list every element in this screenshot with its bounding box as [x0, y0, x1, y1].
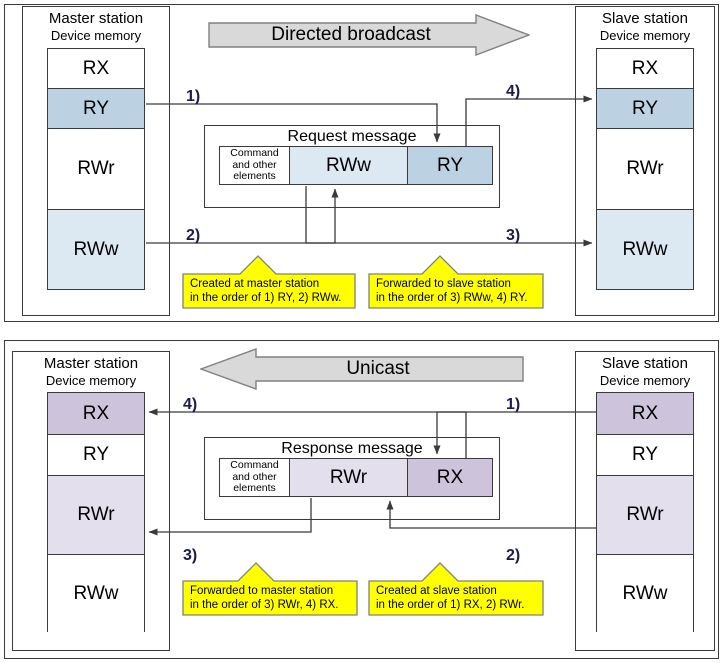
bottom-slave-memory-stack: RX RY RWr RWw	[596, 392, 694, 632]
message-segment-command: Command and other elements	[220, 459, 290, 496]
callout-created-at-slave: Created at slave station in the order of…	[368, 562, 544, 616]
diagram-canvas: Directed broadcast Master station Device…	[0, 0, 723, 663]
memory-cell-ry: RY	[597, 435, 693, 476]
top-step-label-2: 2)	[186, 227, 200, 245]
response-message-title: Response message	[204, 440, 500, 458]
memory-cell-label: RX	[83, 403, 109, 425]
memory-cell-ry: RY	[48, 89, 144, 129]
command-line-3: elements	[233, 483, 276, 495]
top-master-memory-stack: RX RY RWr RWw	[47, 48, 145, 290]
message-segment-rx: RX	[408, 459, 492, 496]
memory-cell-rwr: RWr	[597, 129, 693, 210]
memory-cell-label: RWr	[77, 158, 114, 180]
callout-line-2: in the order of 1) RX, 2) RWr.	[376, 598, 525, 612]
callout-line-1: Created at slave station	[376, 584, 497, 598]
message-segment-label: RX	[437, 467, 463, 489]
message-segment-label: RY	[437, 155, 463, 177]
request-message-title: Request message	[204, 128, 500, 146]
memory-cell-label: RWw	[73, 239, 118, 261]
memory-cell-label: RY	[632, 98, 658, 120]
memory-cell-label: RWr	[626, 158, 663, 180]
memory-cell-label: RX	[83, 58, 109, 80]
memory-cell-label: RY	[83, 98, 109, 120]
bottom-step-label-4: 4)	[183, 396, 197, 414]
banner-label: Directed broadcast	[271, 24, 430, 46]
callout-line-1: Created at master station	[190, 277, 319, 291]
top-master-device-memory-label: Device memory	[22, 28, 170, 43]
callout-line-2: in the order of 1) RY, 2) RWw.	[190, 291, 342, 305]
memory-cell-ry: RY	[597, 89, 693, 129]
directed-broadcast-banner: Directed broadcast	[208, 14, 530, 56]
top-step-label-4: 4)	[506, 83, 520, 101]
memory-cell-label: RWr	[77, 504, 114, 526]
callout-line-2: in the order of 3) RWr, 4) RX.	[190, 598, 339, 612]
bottom-master-station-title: Master station	[12, 355, 170, 372]
top-step-label-3: 3)	[506, 227, 520, 245]
memory-cell-rww: RWw	[48, 210, 144, 289]
message-segment-rww: RWw	[290, 147, 408, 184]
message-segment-label: RWw	[326, 155, 371, 177]
message-segment-command: Command and other elements	[220, 147, 290, 184]
bottom-master-memory-stack: RX RY RWr RWw	[47, 392, 145, 632]
memory-cell-label: RWw	[622, 583, 667, 605]
top-master-station-title: Master station	[22, 10, 170, 27]
unicast-banner: Unicast	[200, 348, 524, 390]
memory-cell-label: RWr	[626, 504, 663, 526]
top-slave-station-title: Slave station	[575, 10, 715, 27]
message-segment-ry: RY	[408, 147, 492, 184]
callout-forwarded-to-master: Forwarded to master station in the order…	[182, 562, 358, 616]
bottom-step-label-1: 1)	[506, 396, 520, 414]
memory-cell-label: RX	[632, 403, 658, 425]
message-segment-label: RWr	[330, 467, 367, 489]
bottom-master-device-memory-label: Device memory	[12, 373, 170, 388]
top-step-label-1: 1)	[186, 88, 200, 106]
memory-cell-rww: RWw	[597, 555, 693, 632]
request-message-row: Command and other elements RWw RY	[219, 146, 493, 185]
memory-cell-label: RWw	[73, 583, 118, 605]
memory-cell-rwr: RWr	[48, 476, 144, 555]
memory-cell-ry: RY	[48, 435, 144, 476]
memory-cell-rww: RWw	[597, 210, 693, 289]
memory-cell-label: RY	[632, 444, 658, 466]
top-slave-memory-stack: RX RY RWr RWw	[596, 48, 694, 290]
memory-cell-rx: RX	[48, 393, 144, 435]
memory-cell-rww: RWw	[48, 555, 144, 632]
memory-cell-rx: RX	[48, 49, 144, 89]
memory-cell-label: RY	[83, 444, 109, 466]
callout-created-at-master: Created at master station in the order o…	[182, 255, 356, 309]
bottom-slave-device-memory-label: Device memory	[575, 373, 715, 388]
banner-label: Unicast	[346, 358, 409, 380]
callout-forwarded-to-slave: Forwarded to slave station in the order …	[368, 255, 544, 309]
memory-cell-label: RX	[632, 58, 658, 80]
callout-line-1: Forwarded to slave station	[376, 277, 511, 291]
bottom-slave-station-title: Slave station	[575, 355, 715, 372]
message-segment-rwr: RWr	[290, 459, 408, 496]
memory-cell-rx: RX	[597, 393, 693, 435]
response-message-row: Command and other elements RWr RX	[219, 458, 493, 497]
memory-cell-rwr: RWr	[597, 476, 693, 555]
callout-line-1: Forwarded to master station	[190, 584, 333, 598]
command-line-3: elements	[233, 171, 276, 183]
memory-cell-rwr: RWr	[48, 129, 144, 210]
callout-line-2: in the order of 3) RWw, 4) RY.	[376, 291, 528, 305]
memory-cell-rx: RX	[597, 49, 693, 89]
memory-cell-label: RWw	[622, 239, 667, 261]
top-slave-device-memory-label: Device memory	[575, 28, 715, 43]
